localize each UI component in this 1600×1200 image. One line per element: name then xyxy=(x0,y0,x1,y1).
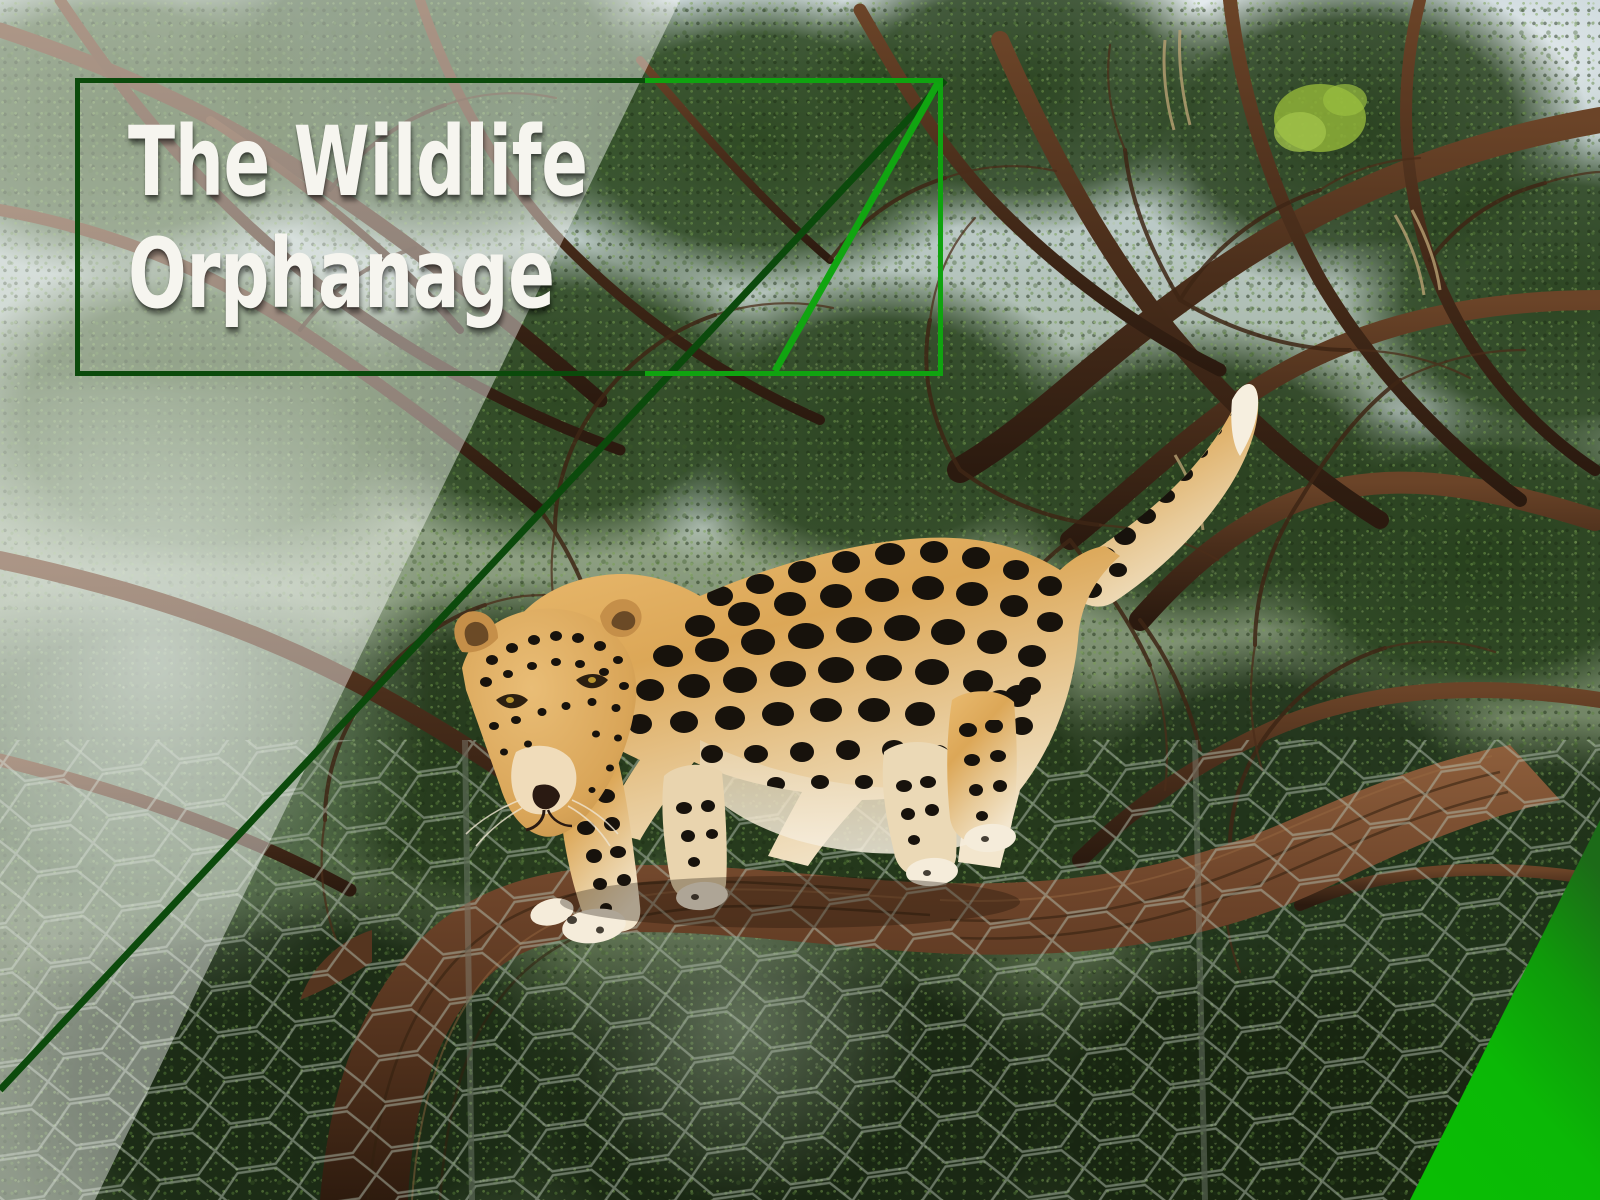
background-photo xyxy=(0,0,1600,1200)
leopard xyxy=(0,0,1600,1200)
slide-canvas: The WildlifeOrphanage xyxy=(0,0,1600,1200)
